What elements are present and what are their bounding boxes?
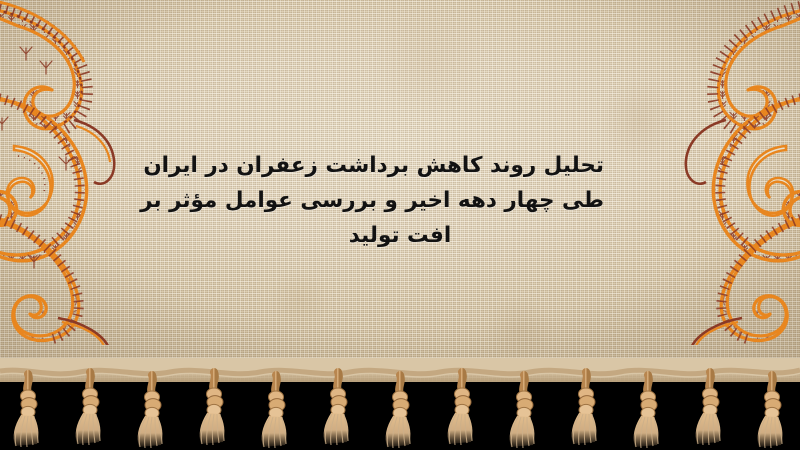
poster-title: تحلیل روند کاهش برداشت زعفران در ایران ط… — [196, 148, 604, 253]
title-line-1: تحلیل روند کاهش برداشت زعفران در ایران — [196, 148, 604, 183]
paisley-ornament-right — [588, 0, 800, 345]
title-line-2: طی چهار دهه اخیر و بررسی عوامل مؤثر بر — [196, 183, 604, 218]
tassel-row — [14, 372, 783, 448]
title-line-3: افت تولید — [196, 218, 604, 253]
tassel-fringe — [0, 358, 800, 450]
textile-poster: تحلیل روند کاهش برداشت زعفران در ایران ط… — [0, 0, 800, 450]
